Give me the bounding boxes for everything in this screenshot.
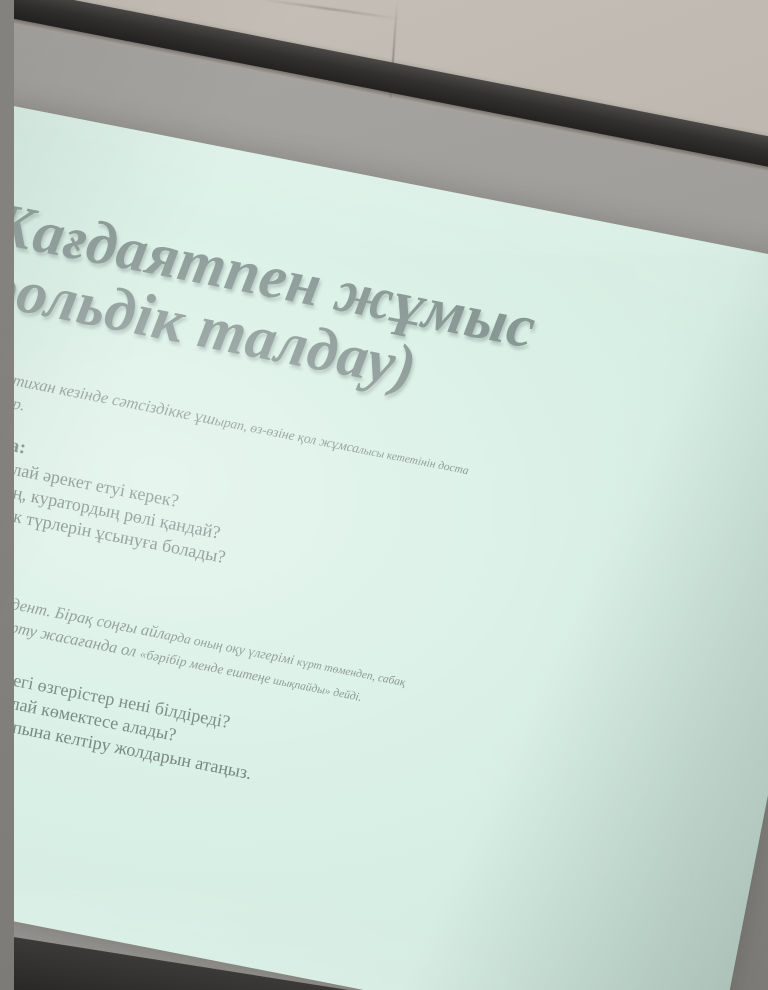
left-edge-strip	[0, 0, 14, 990]
photo-scene: Жағдаятпен жұмыс (рольдік талдау) 01 02 …	[0, 0, 768, 990]
